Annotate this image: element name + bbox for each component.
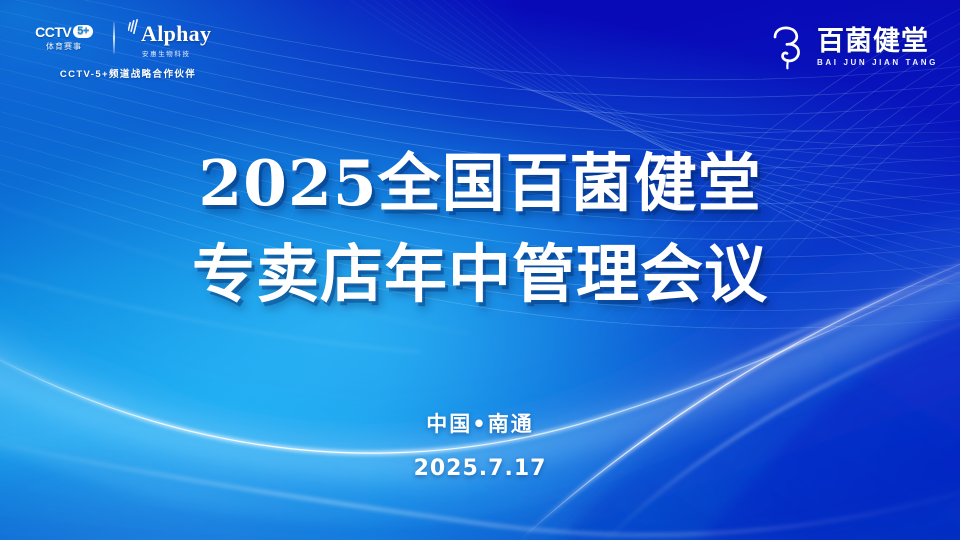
alphay-stripe-icon — [128, 19, 141, 41]
baijun-text-block: 百菌健堂 BAI JUN JIAN TANG — [817, 28, 938, 67]
alphay-wordmark: Alphay — [141, 23, 211, 45]
title-line-2: 专卖店年中管理会议 — [0, 229, 960, 320]
cctv-wordmark: CCTV — [35, 25, 71, 39]
baijun-spiral-mark-icon — [766, 24, 810, 70]
event-date: 2025.7.17 — [0, 456, 960, 481]
alphay-wordmark-row: Alphay — [128, 19, 211, 45]
logo-divider — [113, 22, 115, 54]
partner-tagline: CCTV-5+频道战略合作伙伴 — [28, 66, 228, 80]
cctv-subtitle: 体育赛事 — [46, 41, 82, 52]
baijun-name-en: BAI JUN JIAN TANG — [817, 58, 938, 67]
main-title: 2025全国百菌健堂 专卖店年中管理会议 — [0, 138, 960, 321]
cctv-channel-badge: 5+ — [73, 25, 93, 38]
alphay-logo: Alphay 安惠生物科技 — [128, 19, 211, 58]
presentation-slide: CCTV 5+ 体育赛事 Alphay 安惠生 — [0, 0, 960, 540]
logo-row: CCTV 5+ 体育赛事 Alphay 安惠生 — [28, 17, 228, 59]
title-line-1: 2025全国百菌健堂 — [0, 138, 960, 229]
cctv-alphay-partner-logo: CCTV 5+ 体育赛事 Alphay 安惠生 — [28, 17, 228, 79]
footer-info: 中国•南通 2025.7.17 — [0, 408, 960, 481]
cctv-wordmark-row: CCTV 5+ — [35, 25, 93, 39]
baijunjiantang-logo: 百菌健堂 BAI JUN JIAN TANG — [766, 22, 938, 72]
cctv-logo: CCTV 5+ 体育赛事 — [28, 25, 100, 52]
alphay-subtitle: 安惠生物科技 — [142, 48, 191, 58]
baijun-name-cn: 百菌健堂 — [817, 28, 929, 55]
event-location: 中国•南通 — [0, 408, 960, 438]
